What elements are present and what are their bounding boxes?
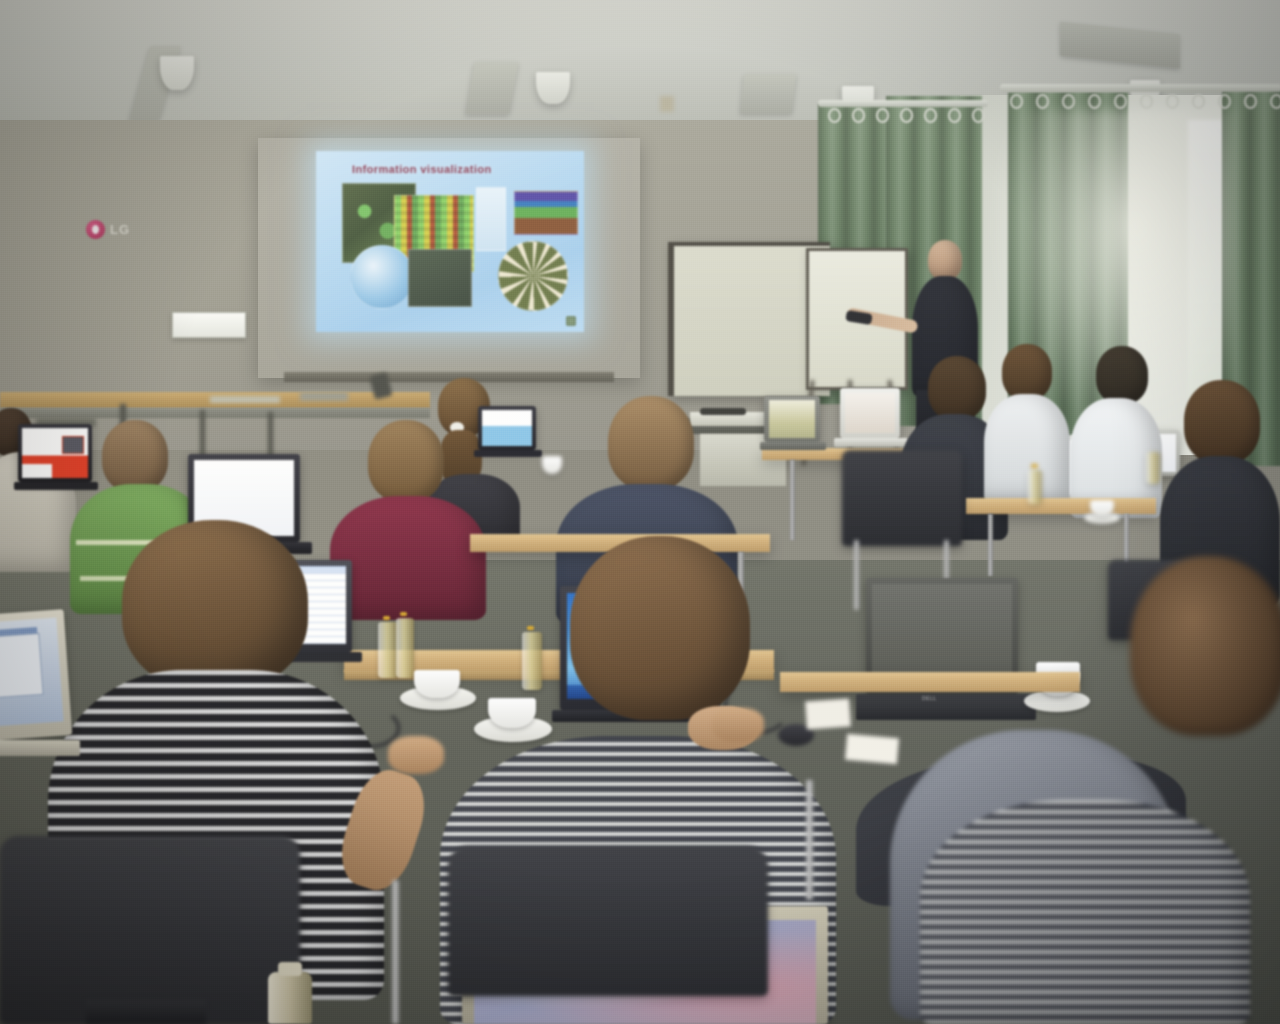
bottle-cap [1031,464,1038,468]
attendee-head [1130,556,1280,736]
attendee-hand [388,736,444,774]
chair-leg [854,540,859,610]
attendee-head [102,420,168,492]
attendee-white-shirt-1 [984,344,1070,514]
chair[interactable] [842,450,962,546]
juice-bottle [268,972,312,1024]
laptop-screen [845,393,895,433]
ceiling-beam [740,74,796,114]
juice-bottle [1028,470,1042,504]
ceiling-beam [465,62,518,114]
laptop-screen [0,618,64,727]
attendee-head [1096,346,1148,404]
bottle-cap [278,962,302,976]
attendee-head [1002,344,1052,400]
right-table [966,498,1156,514]
attendee-head [928,356,986,420]
conference-room-photo: Information visualization LG [0,0,1280,1024]
slide-figure-colour-band-plot [514,191,578,235]
attendee-head [122,520,308,690]
presenter-head [928,240,962,280]
slide-figure-interface-panel [476,187,506,251]
attendee-head [608,396,694,490]
table-leg [988,514,993,576]
chair[interactable] [448,846,768,996]
attendee-head [570,536,750,720]
chair-post [392,880,399,1024]
chair[interactable] [0,836,300,1024]
curtain-rings [1006,92,1280,108]
lg-circle-icon [86,220,105,239]
lg-wordmark: LG [110,222,130,237]
slide-corner-logo [566,316,576,326]
lg-display-logo: LG [86,218,148,244]
bottle-cap [400,612,407,616]
slide-figure-radial-star-plot [498,241,568,311]
shelf-item [210,396,280,403]
juice-bottle [1146,452,1160,484]
ceiling-fitting [660,96,674,112]
slide-figure-globe-visualization [350,245,414,309]
chair-post [806,780,813,900]
laptop-edge [86,1000,206,1024]
attendee-head [368,420,444,502]
wall-sign [172,312,246,338]
juice-bottle [396,618,414,678]
curtain-rings [822,106,988,122]
attendee-torso [920,800,1250,1024]
laptop-screen [769,400,815,438]
attendee-head [1184,380,1260,464]
shelf-item [300,392,348,401]
attendee-hand [712,708,764,742]
curtain-rail [1000,84,1280,92]
cable [268,412,273,460]
table-leg [790,460,795,540]
attendee-torso [984,394,1070,504]
slide-title: Information visualization [352,164,492,176]
attendee-curly-foreground [1130,556,1280,816]
projected-slide: Information visualization [316,151,584,332]
slide-figure-dark-photo-panel [408,249,472,307]
